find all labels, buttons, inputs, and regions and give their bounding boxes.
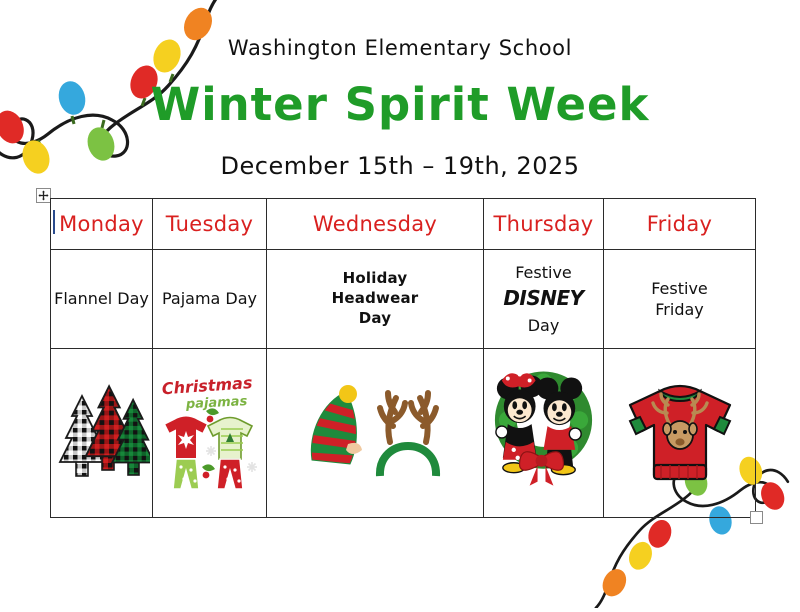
day-label-friday: Friday — [647, 212, 712, 236]
table-row-day-headers: Monday Tuesday Wednesday Thursday Friday — [51, 199, 756, 250]
spirit-week-table-wrapper[interactable]: Monday Tuesday Wednesday Thursday Friday — [50, 198, 755, 516]
day-text: Monday — [59, 212, 144, 236]
image-cell-thursday[interactable] — [484, 349, 604, 518]
day-header-friday[interactable]: Friday — [604, 199, 756, 250]
school-name: Washington Elementary School — [0, 36, 800, 60]
day-label-thursday: Thursday — [493, 212, 593, 236]
document-page: Washington Elementary School Winter Spir… — [0, 0, 800, 608]
activity-line-1: Festive — [604, 278, 755, 299]
image-cell-tuesday[interactable]: Christmas pajamas — [153, 349, 267, 518]
day-header-monday[interactable]: Monday — [51, 199, 153, 250]
activity-cell-thursday[interactable]: Festive DISNEY Day — [484, 250, 604, 349]
day-header-wednesday[interactable]: Wednesday — [267, 199, 484, 250]
activity-cell-friday[interactable]: Festive Friday — [604, 250, 756, 349]
activity-line-1: Holiday — [267, 269, 483, 289]
table-resize-handle[interactable] — [750, 511, 763, 524]
day-label-monday: Monday — [59, 212, 144, 236]
spirit-week-table: Monday Tuesday Wednesday Thursday Friday — [50, 198, 756, 518]
disney-logo-text: DISNEY — [484, 285, 603, 311]
activity-label-friday: Festive Friday — [604, 278, 755, 320]
activity-label-wednesday: Holiday Headwear Day — [267, 269, 483, 328]
page-title: Winter Spirit Week — [0, 78, 800, 131]
activity-cell-wednesday[interactable]: Holiday Headwear Day — [267, 250, 484, 349]
activity-line-1: Festive — [484, 262, 603, 283]
image-cell-monday[interactable] — [51, 349, 153, 518]
activity-line-3: Day — [484, 315, 603, 336]
pajama-art-word-2: pajamas — [184, 394, 247, 412]
image-cell-friday[interactable] — [604, 349, 756, 518]
elf-hat-and-antler-headband-icon — [267, 349, 483, 517]
activity-line-3: Day — [267, 309, 483, 329]
table-row-images: Christmas pajamas — [51, 349, 756, 518]
christmas-pajamas-clipart-icon: Christmas pajamas — [153, 349, 266, 517]
activity-label-tuesday: Pajama Day — [153, 288, 266, 309]
date-range: December 15th – 19th, 2025 — [0, 152, 800, 180]
activity-line-2: Headwear — [267, 289, 483, 309]
move-cross-icon — [38, 190, 49, 201]
activity-cell-monday[interactable]: Flannel Day — [51, 250, 153, 349]
day-label-wednesday: Wednesday — [313, 212, 437, 236]
activity-label-monday: Flannel Day — [51, 288, 152, 309]
ugly-christmas-sweater-icon — [604, 349, 755, 517]
image-cell-wednesday[interactable] — [267, 349, 484, 518]
day-header-thursday[interactable]: Thursday — [484, 199, 604, 250]
table-move-handle[interactable] — [36, 188, 51, 203]
day-label-tuesday: Tuesday — [166, 212, 254, 236]
mickey-and-minnie-wreath-icon — [484, 349, 603, 517]
day-header-tuesday[interactable]: Tuesday — [153, 199, 267, 250]
activity-cell-tuesday[interactable]: Pajama Day — [153, 250, 267, 349]
activity-line-2: Friday — [604, 299, 755, 320]
activity-label-thursday: Festive DISNEY Day — [484, 262, 603, 337]
text-cursor — [53, 210, 55, 234]
table-row-activities: Flannel Day Pajama Day Holiday Headwear … — [51, 250, 756, 349]
plaid-christmas-trees-icon — [51, 349, 152, 517]
